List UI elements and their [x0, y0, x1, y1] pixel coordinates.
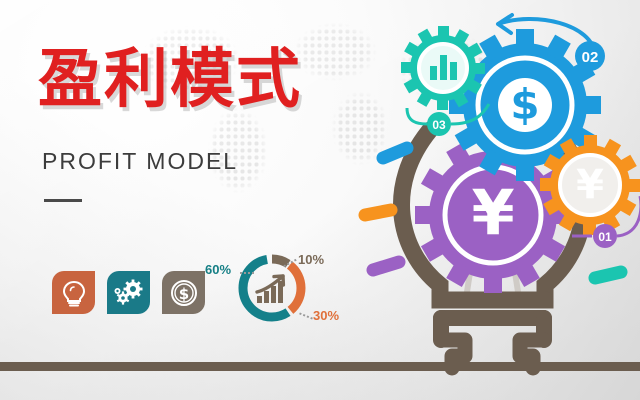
ground-line: [0, 362, 640, 371]
title-divider: [44, 199, 82, 202]
badge-03: 03: [427, 112, 451, 136]
gears-icon: [114, 279, 144, 307]
badge-02: 02: [575, 41, 605, 71]
badge-01: 01: [593, 224, 617, 248]
lightbulb-icon: [61, 279, 87, 307]
ray-blue: [383, 148, 407, 158]
tile-idea[interactable]: [52, 271, 95, 314]
dollar-symbol: $: [510, 80, 539, 129]
page-subtitle: PROFIT MODEL: [42, 148, 238, 175]
leader-line-60: [240, 272, 254, 274]
bar-chart-arrow-icon: [257, 276, 283, 303]
icon-tile-group: $: [52, 271, 205, 314]
page-title: 盈利模式: [38, 48, 302, 112]
donut-label-10: 10%: [298, 252, 324, 267]
svg-text:02: 02: [582, 49, 599, 66]
donut-label-30: 30%: [313, 308, 339, 323]
tile-money[interactable]: $: [162, 271, 205, 314]
poster-canvas: ¥: [0, 0, 640, 400]
svg-text:03: 03: [432, 118, 446, 132]
tile-process[interactable]: [107, 271, 150, 314]
svg-text:$: $: [178, 285, 188, 303]
lightbulb-gears-illustration: ¥: [355, 0, 640, 400]
yuan-symbol-large: ¥: [471, 176, 514, 249]
donut-label-60: 60%: [205, 262, 231, 277]
yuan-symbol-small: ¥: [576, 162, 604, 208]
ray-purple: [373, 262, 399, 270]
ray-orange: [365, 210, 391, 215]
ray-teal: [595, 272, 621, 278]
dollar-coin-icon: $: [170, 279, 198, 307]
svg-text:01: 01: [598, 230, 612, 244]
